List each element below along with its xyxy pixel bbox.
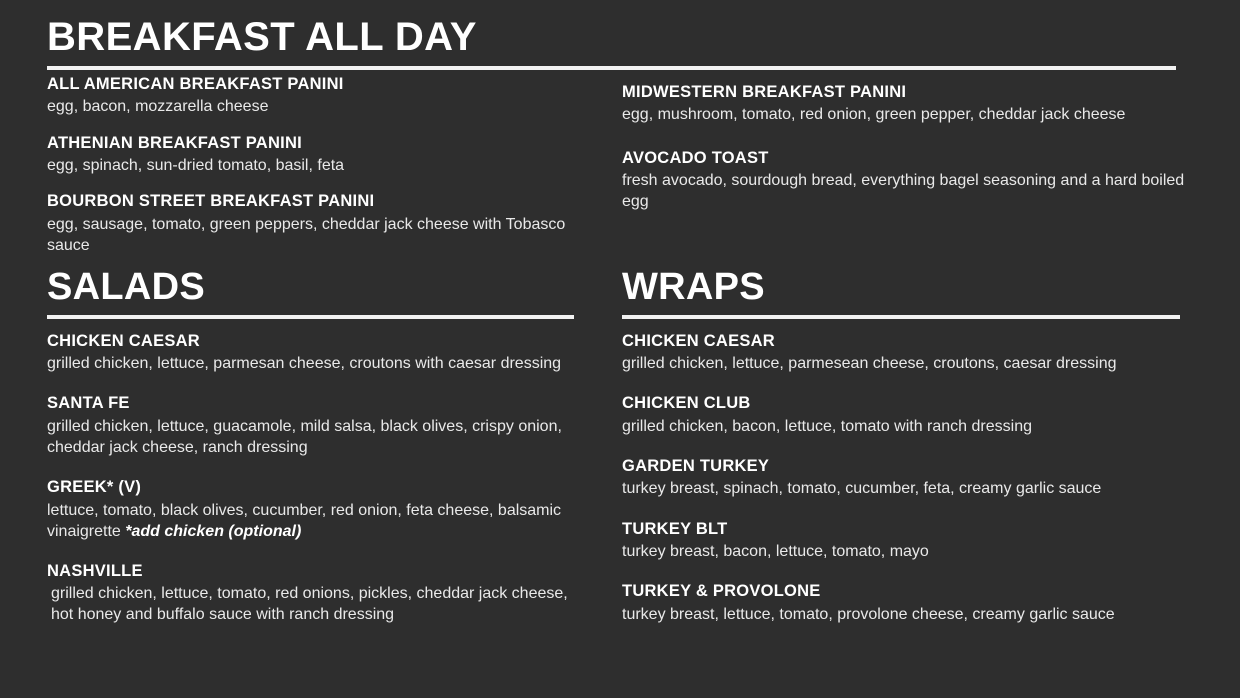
menu-item: BOURBON STREET BREAKFAST PANINI egg, sau… <box>47 191 607 256</box>
item-description: lettuce, tomato, black olives, cucumber,… <box>47 500 574 542</box>
menu-board: BREAKFAST ALL DAY ALL AMERICAN BREAKFAST… <box>0 0 1240 698</box>
menu-item: SANTA FE grilled chicken, lettuce, guaca… <box>47 393 574 458</box>
item-note: *add chicken (optional) <box>125 523 301 540</box>
menu-item: GARDEN TURKEY turkey breast, spinach, to… <box>622 456 1180 500</box>
item-name: GREEK* (V) <box>47 477 574 497</box>
menu-item: CHICKEN CAESAR grilled chicken, lettuce,… <box>47 331 574 375</box>
item-name: GARDEN TURKEY <box>622 456 1180 476</box>
item-name: SANTA FE <box>47 393 574 413</box>
item-description: egg, spinach, sun-dried tomato, basil, f… <box>47 155 607 176</box>
menu-item: ATHENIAN BREAKFAST PANINI egg, spinach, … <box>47 133 607 177</box>
item-description: grilled chicken, lettuce, guacamole, mil… <box>47 416 574 458</box>
item-description: grilled chicken, lettuce, parmesan chees… <box>47 353 574 374</box>
salads-list: CHICKEN CAESAR grilled chicken, lettuce,… <box>47 331 574 626</box>
menu-item: GREEK* (V) lettuce, tomato, black olives… <box>47 477 574 542</box>
item-name: BOURBON STREET BREAKFAST PANINI <box>47 191 607 211</box>
wraps-title: WRAPS <box>622 268 1180 308</box>
item-name: CHICKEN CAESAR <box>622 331 1180 351</box>
wraps-list: CHICKEN CAESAR grilled chicken, lettuce,… <box>622 331 1180 625</box>
item-name: NASHVILLE <box>47 561 574 581</box>
menu-item: CHICKEN CLUB grilled chicken, bacon, let… <box>622 393 1180 437</box>
salads-section: SALADS CHICKEN CAESAR grilled chicken, l… <box>47 268 574 644</box>
menu-item: NASHVILLE grilled chicken, lettuce, toma… <box>47 561 574 626</box>
item-name: ALL AMERICAN BREAKFAST PANINI <box>47 74 607 94</box>
item-description: egg, bacon, mozzarella cheese <box>47 96 607 117</box>
salads-title: SALADS <box>47 268 574 308</box>
item-name: CHICKEN CAESAR <box>47 331 574 351</box>
item-description: fresh avocado, sourdough bread, everythi… <box>622 170 1188 212</box>
menu-item: CHICKEN CAESAR grilled chicken, lettuce,… <box>622 331 1180 375</box>
menu-item: TURKEY BLT turkey breast, bacon, lettuce… <box>622 519 1180 563</box>
menu-item: AVOCADO TOAST fresh avocado, sourdough b… <box>622 148 1188 213</box>
wraps-section: WRAPS CHICKEN CAESAR grilled chicken, le… <box>622 268 1180 644</box>
item-name: ATHENIAN BREAKFAST PANINI <box>47 133 607 153</box>
item-description: grilled chicken, lettuce, parmesean chee… <box>622 353 1180 374</box>
breakfast-left-list: ALL AMERICAN BREAKFAST PANINI egg, bacon… <box>47 74 607 271</box>
item-description: egg, mushroom, tomato, red onion, green … <box>622 104 1188 125</box>
item-name: CHICKEN CLUB <box>622 393 1180 413</box>
item-description: turkey breast, spinach, tomato, cucumber… <box>622 478 1180 499</box>
item-description: grilled chicken, lettuce, tomato, red on… <box>47 583 574 625</box>
item-description: grilled chicken, bacon, lettuce, tomato … <box>622 416 1180 437</box>
item-description: egg, sausage, tomato, green peppers, che… <box>47 214 607 256</box>
breakfast-right-list: MIDWESTERN BREAKFAST PANINI egg, mushroo… <box>622 82 1188 234</box>
menu-columns: ALL AMERICAN BREAKFAST PANINI egg, bacon… <box>0 0 1240 698</box>
item-name: AVOCADO TOAST <box>622 148 1188 168</box>
item-name: TURKEY & PROVOLONE <box>622 581 1180 601</box>
item-name: TURKEY BLT <box>622 519 1180 539</box>
menu-item: MIDWESTERN BREAKFAST PANINI egg, mushroo… <box>622 82 1188 126</box>
item-description: turkey breast, bacon, lettuce, tomato, m… <box>622 541 1180 562</box>
wraps-divider <box>622 315 1180 319</box>
item-name: MIDWESTERN BREAKFAST PANINI <box>622 82 1188 102</box>
menu-item: ALL AMERICAN BREAKFAST PANINI egg, bacon… <box>47 74 607 118</box>
menu-item: TURKEY & PROVOLONE turkey breast, lettuc… <box>622 581 1180 625</box>
item-description: turkey breast, lettuce, tomato, provolon… <box>622 604 1180 625</box>
salads-divider <box>47 315 574 319</box>
